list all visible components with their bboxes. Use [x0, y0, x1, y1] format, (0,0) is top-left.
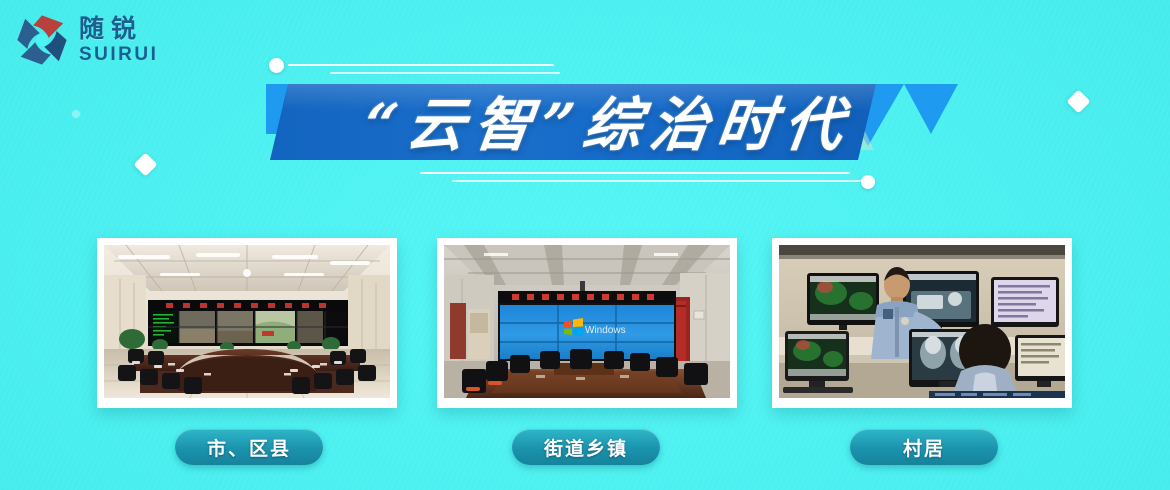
- deco-dot-bottom-right: [861, 175, 875, 189]
- banner-triangle-down: [904, 84, 958, 134]
- logo-wordmark: 随锐 SUIRUI: [79, 16, 158, 64]
- logo-english-name: SUIRUI: [79, 45, 158, 64]
- deco-diamond-right: [1066, 89, 1090, 113]
- photo-township-meeting-room-videowall: Windows: [444, 245, 730, 398]
- photo-card-city-district[interactable]: [97, 238, 397, 408]
- caption-pill-village[interactable]: 村居: [850, 429, 998, 465]
- deco-line-bottom-2: [452, 180, 862, 182]
- brand-logo[interactable]: 随锐 SUIRUI: [14, 12, 158, 68]
- deco-line-bottom-1: [420, 172, 850, 174]
- caption-pill-street-township[interactable]: 街道乡镇: [512, 429, 660, 465]
- slide-canvas: 随锐 SUIRUI: [0, 0, 1170, 490]
- photo-village-monitoring-station-officer: [779, 245, 1065, 398]
- photo-card-street-township[interactable]: Windows: [437, 238, 737, 408]
- banner-shape: [258, 52, 958, 192]
- photo-command-center-conference-room: [104, 245, 390, 398]
- logo-chinese-name: 随锐: [79, 16, 158, 41]
- photo-card-village[interactable]: [772, 238, 1072, 408]
- caption-pill-city-district[interactable]: 市、区县: [175, 429, 323, 465]
- headline-banner: “云智”综治时代: [258, 52, 958, 192]
- deco-diamond-left: [133, 152, 157, 176]
- caption-label-city-district: 市、区县: [207, 434, 291, 461]
- deco-diamond-faint: [70, 108, 81, 119]
- caption-label-street-township: 街道乡镇: [544, 434, 628, 461]
- photo-card-row: Windows: [0, 238, 1170, 413]
- svg-text:Windows: Windows: [585, 325, 626, 336]
- suirui-pinwheel-logo-icon: [14, 12, 70, 68]
- caption-label-village: 村居: [903, 434, 945, 461]
